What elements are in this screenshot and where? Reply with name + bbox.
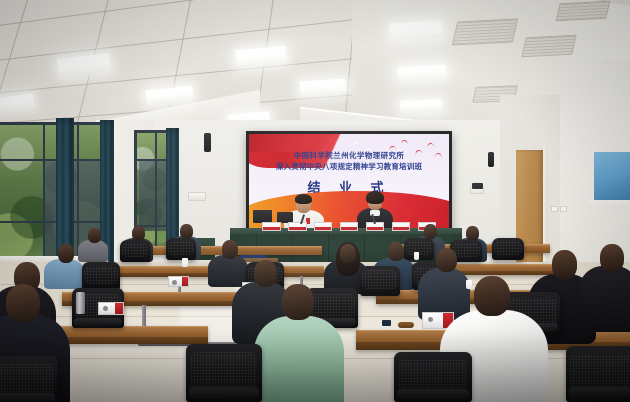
person-head — [180, 224, 193, 239]
desk-name-placard — [168, 276, 189, 287]
name-placard — [262, 222, 281, 231]
banner-program-line: 深入贯彻中央八项规定精神学习教育培训班 — [249, 162, 449, 173]
person-head — [388, 242, 404, 261]
name-placard — [340, 222, 358, 231]
ac-vent — [452, 18, 518, 45]
office-chair[interactable] — [120, 240, 150, 262]
wall-mounted-device — [472, 183, 483, 189]
person-head — [88, 228, 101, 243]
paper-cup — [414, 252, 419, 260]
ceiling-light-panel — [390, 21, 444, 41]
office-chair[interactable] — [82, 262, 120, 290]
office-chair[interactable] — [360, 266, 400, 296]
conference-room-photo: 中国科学院兰州化学物理研究所 深入贯彻中央八项规定精神学习教育培训班 结 业 式… — [0, 0, 630, 402]
person-head — [466, 226, 479, 241]
office-chair[interactable] — [0, 356, 58, 402]
ceiling-light-panel — [398, 65, 447, 80]
dove-icon — [427, 142, 435, 148]
person-torso — [44, 259, 84, 289]
door-jamb — [543, 146, 548, 276]
person-head — [254, 260, 277, 287]
office-chair[interactable] — [166, 238, 196, 260]
presenter-hair — [295, 194, 312, 204]
ac-vent — [521, 35, 576, 58]
office-chair[interactable] — [394, 352, 472, 402]
light-switch[interactable] — [560, 206, 567, 212]
eyeglasses — [398, 322, 414, 328]
office-chair[interactable] — [404, 238, 434, 260]
presenter-hair — [366, 191, 384, 204]
light-switch[interactable] — [551, 206, 558, 212]
wall-speaker-icon — [204, 133, 211, 152]
wall-speaker-icon — [488, 152, 494, 167]
person-torso — [254, 316, 344, 402]
person-head — [222, 240, 238, 259]
dove-icon — [401, 139, 409, 145]
office-chair[interactable] — [566, 346, 630, 402]
name-placard — [314, 222, 332, 231]
person-head — [6, 284, 40, 322]
thermos-bottle — [76, 292, 85, 314]
person-head — [436, 248, 457, 272]
right-window — [592, 150, 630, 202]
phone — [382, 320, 391, 326]
banner-org-line: 中国科学院兰州化学物理研究所 — [249, 151, 449, 162]
person-torso — [78, 240, 108, 262]
person-head — [282, 284, 314, 320]
person-head — [600, 244, 624, 272]
person-head — [58, 244, 74, 263]
ceiling-light-panel — [400, 99, 442, 111]
ac-vent — [556, 1, 611, 22]
person-head — [552, 250, 577, 279]
person-head — [424, 224, 437, 239]
office-chair[interactable] — [492, 238, 524, 260]
person-head — [474, 276, 510, 316]
wall-vent — [188, 192, 206, 201]
person-head — [132, 226, 145, 241]
name-placard — [288, 222, 307, 231]
desk-name-placard — [98, 302, 124, 315]
right-window-sill — [588, 200, 630, 204]
name-placard — [392, 222, 410, 231]
person-head — [340, 244, 356, 263]
office-chair[interactable] — [186, 344, 262, 402]
person-torso — [578, 266, 630, 332]
paper-cup — [182, 258, 188, 267]
paper-cup — [466, 280, 472, 289]
